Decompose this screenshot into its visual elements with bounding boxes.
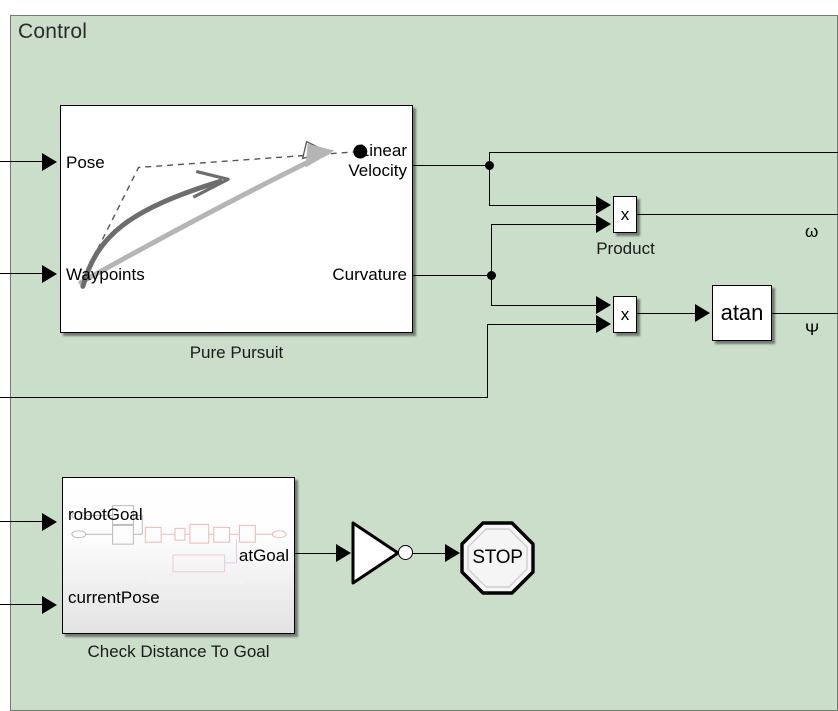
arrow-not-input	[336, 544, 351, 562]
check-goal-port-robotgoal: robotGoal	[68, 505, 143, 525]
product-2-symbol: x	[614, 297, 636, 332]
product-block-1[interactable]: x	[613, 196, 637, 233]
signal-label-omega: ω	[805, 222, 818, 242]
check-distance-to-goal-label: Check Distance To Goal	[46, 642, 311, 662]
arrow-stop-input	[445, 544, 460, 562]
arrow-currentpose-input	[42, 596, 57, 614]
arrow-robotgoal-input	[42, 513, 57, 531]
pure-pursuit-icon	[61, 106, 412, 332]
pure-pursuit-port-pose: Pose	[66, 153, 105, 173]
not-gate-bubble-icon	[398, 545, 413, 560]
check-goal-port-currentpose: currentPose	[68, 588, 160, 608]
wire-feedback-bottom	[0, 397, 488, 398]
product-1-symbol: x	[614, 197, 636, 232]
arrow-product1-input1	[596, 196, 611, 214]
arrow-product2-input2	[596, 315, 611, 333]
wire-curvature-up	[491, 224, 492, 275]
pure-pursuit-port-curvature: Curvature	[313, 265, 407, 285]
stop-block-label: STOP	[460, 521, 535, 595]
arrow-atan-input	[695, 304, 710, 322]
logical-not-gate-block[interactable]	[351, 521, 400, 585]
pure-pursuit-block-label: Pure Pursuit	[60, 343, 413, 363]
product-block-1-label: Product	[583, 239, 668, 259]
wire-linvel-top-rail	[489, 152, 838, 153]
atan-block-symbol: atan	[713, 286, 771, 340]
wire-linvel-to-product1	[489, 205, 596, 206]
wire-linvel-out	[413, 165, 491, 166]
wire-pose-input	[0, 161, 42, 162]
wire-feedback-to-product2	[487, 324, 596, 325]
linear-velocity-line-2: Velocity	[343, 161, 407, 181]
wire-psi-out	[772, 313, 838, 314]
check-goal-port-atgoal: atGoal	[205, 546, 289, 566]
diagram-canvas: Control Pose Waypoints Linear Velocity C…	[0, 0, 838, 711]
wire-omega-out	[637, 214, 838, 215]
arrow-waypoints-input	[42, 265, 57, 283]
product-block-2[interactable]: x	[613, 296, 637, 333]
wire-product2-to-atan	[637, 313, 695, 314]
pure-pursuit-block[interactable]	[60, 105, 413, 333]
wire-linvel-up	[489, 152, 490, 166]
wire-waypoints-input	[0, 273, 42, 274]
wire-atgoal-to-not	[295, 553, 336, 554]
signal-label-psi: Ψ	[805, 320, 819, 340]
wire-feedback-riser	[487, 324, 488, 398]
arrow-pose-input	[42, 153, 57, 171]
arrow-product1-input2	[596, 215, 611, 233]
wire-linvel-down	[489, 165, 490, 205]
pure-pursuit-port-waypoints: Waypoints	[66, 265, 145, 285]
control-panel-title: Control	[18, 20, 87, 44]
pure-pursuit-port-linear-velocity: Linear Velocity	[343, 141, 407, 181]
wire-curvature-to-product2	[491, 305, 596, 306]
wire-curvature-down	[491, 275, 492, 305]
atan-block[interactable]: atan	[712, 285, 772, 341]
linear-velocity-line-1: Linear	[343, 141, 407, 161]
wire-curvature-out	[413, 275, 493, 276]
wire-currentpose-input	[0, 604, 42, 605]
wire-robotgoal-input	[0, 521, 42, 522]
wire-curvature-to-product1	[491, 224, 596, 225]
wire-not-to-stop	[413, 553, 445, 554]
arrow-product2-input1	[596, 296, 611, 314]
